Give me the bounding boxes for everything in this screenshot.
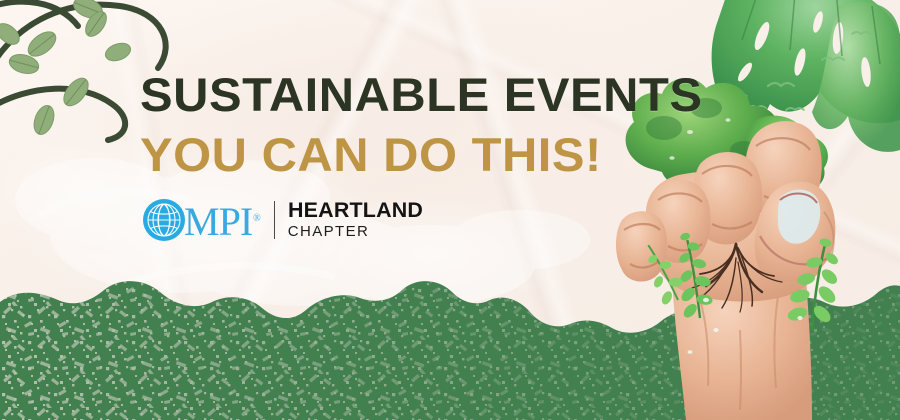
mpi-wordmark: MPI® bbox=[184, 199, 260, 242]
mpi-wordmark-text: MPI bbox=[184, 199, 252, 244]
logo-divider bbox=[274, 201, 275, 239]
mpi-heartland-logo[interactable]: MPI® HEARTLAND CHAPTER bbox=[142, 198, 681, 242]
globe-icon bbox=[142, 198, 186, 242]
headline-block: SUSTAINABLE EVENTS YOU CAN DO THIS! MPI® bbox=[140, 66, 681, 242]
banner-root: SUSTAINABLE EVENTS YOU CAN DO THIS! MPI® bbox=[0, 0, 900, 420]
chapter-name: HEARTLAND bbox=[288, 200, 423, 221]
chapter-block: HEARTLAND CHAPTER bbox=[288, 200, 420, 240]
headline-line-2: YOU CAN DO THIS! bbox=[140, 126, 702, 184]
headline-line-1: SUSTAINABLE EVENTS bbox=[140, 66, 702, 124]
chapter-label: CHAPTER bbox=[288, 223, 420, 240]
registered-trademark-icon: ® bbox=[253, 213, 260, 224]
